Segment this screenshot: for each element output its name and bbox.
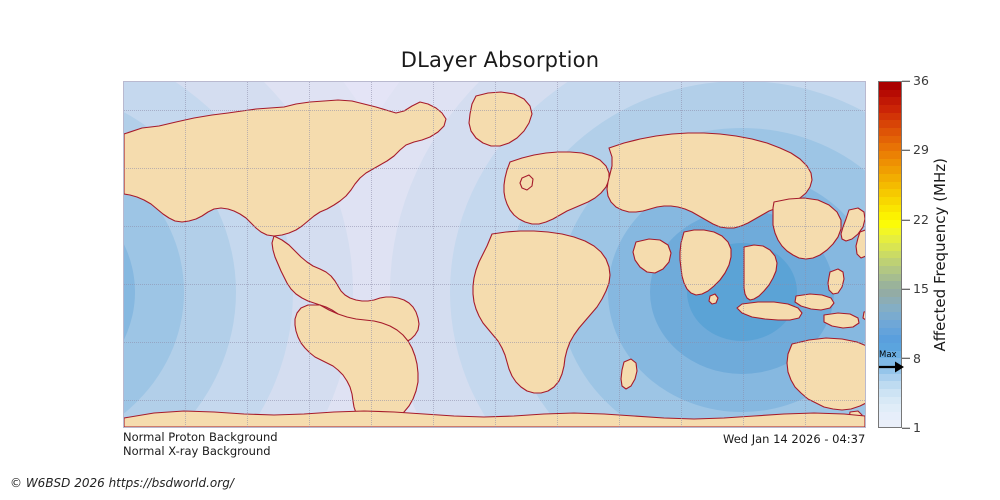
colorbar-band <box>879 281 901 289</box>
colorbar-band <box>879 205 901 213</box>
colorbar-tick: 8 <box>902 352 921 365</box>
colorbar-band <box>879 412 901 420</box>
colorbar-band <box>879 189 901 197</box>
colorbar-band <box>879 304 901 312</box>
colorbar-band <box>879 381 901 389</box>
colorbar-band <box>879 404 901 412</box>
colorbar-tick: 22 <box>902 214 929 227</box>
colorbar-band <box>879 243 901 251</box>
colorbar-band <box>879 389 901 397</box>
colorbar-band <box>879 343 901 351</box>
colorbar-band <box>879 328 901 336</box>
colorbar-band <box>879 266 901 274</box>
colorbar-band <box>879 113 901 121</box>
map-canvas <box>124 82 865 427</box>
colorbar-band <box>879 297 901 305</box>
colorbar-band <box>879 220 901 228</box>
colorbar-tick: 36 <box>902 75 929 88</box>
coastline-layer <box>124 82 865 427</box>
colorbar-tick: 29 <box>902 144 929 157</box>
colorbar-band <box>879 143 901 151</box>
colorbar-title: Affected Frequency (MHz) <box>926 81 954 428</box>
colorbar-band <box>879 166 901 174</box>
colorbar-band <box>879 258 901 266</box>
colorbar-band <box>879 97 901 105</box>
proton-background-note: Normal Proton Background <box>123 430 278 444</box>
colorbar-band <box>879 128 901 136</box>
colorbar-band <box>879 374 901 382</box>
colorbar-band <box>879 251 901 259</box>
colorbar-band <box>879 366 901 374</box>
tick-mark <box>902 219 910 220</box>
tick-mark <box>902 150 910 151</box>
colorbar-band <box>879 82 901 90</box>
colorbar-tick: 15 <box>902 283 929 296</box>
colorbar-band <box>879 358 901 366</box>
colorbar-band <box>879 228 901 236</box>
colorbar-tick: 1 <box>902 422 921 435</box>
credit-footer: © W6BSD 2026 https://bsdworld.org/ <box>10 476 234 490</box>
colorbar-band <box>879 120 901 128</box>
xray-background-note: Normal X-ray Background <box>123 444 271 458</box>
colorbar-band <box>879 182 901 190</box>
colorbar[interactable]: 1815222936 <box>878 81 902 428</box>
colorbar-band <box>879 312 901 320</box>
tick-mark <box>902 81 910 82</box>
colorbar-band <box>879 105 901 113</box>
tick-mark <box>902 358 910 359</box>
colorbar-band <box>879 289 901 297</box>
colorbar-gradient <box>878 81 902 428</box>
world-map[interactable] <box>123 81 866 428</box>
tick-label: 8 <box>913 352 921 365</box>
colorbar-band <box>879 397 901 405</box>
colorbar-title-text: Affected Frequency (MHz) <box>931 158 949 352</box>
colorbar-band <box>879 335 901 343</box>
tick-mark <box>902 289 910 290</box>
colorbar-band <box>879 151 901 159</box>
colorbar-band <box>879 351 901 359</box>
colorbar-band <box>879 274 901 282</box>
colorbar-band <box>879 136 901 144</box>
colorbar-band <box>879 420 901 428</box>
colorbar-band <box>879 197 901 205</box>
timestamp-label: Wed Jan 14 2026 - 04:37 <box>723 432 865 446</box>
tick-mark <box>902 428 910 429</box>
colorbar-band <box>879 174 901 182</box>
figure-root: DLayer Absorption <box>0 0 1000 500</box>
tick-label: 1 <box>913 422 921 435</box>
colorbar-band <box>879 320 901 328</box>
colorbar-band <box>879 212 901 220</box>
colorbar-band <box>879 235 901 243</box>
colorbar-band <box>879 159 901 167</box>
page-title: DLayer Absorption <box>0 48 1000 72</box>
colorbar-band <box>879 90 901 98</box>
